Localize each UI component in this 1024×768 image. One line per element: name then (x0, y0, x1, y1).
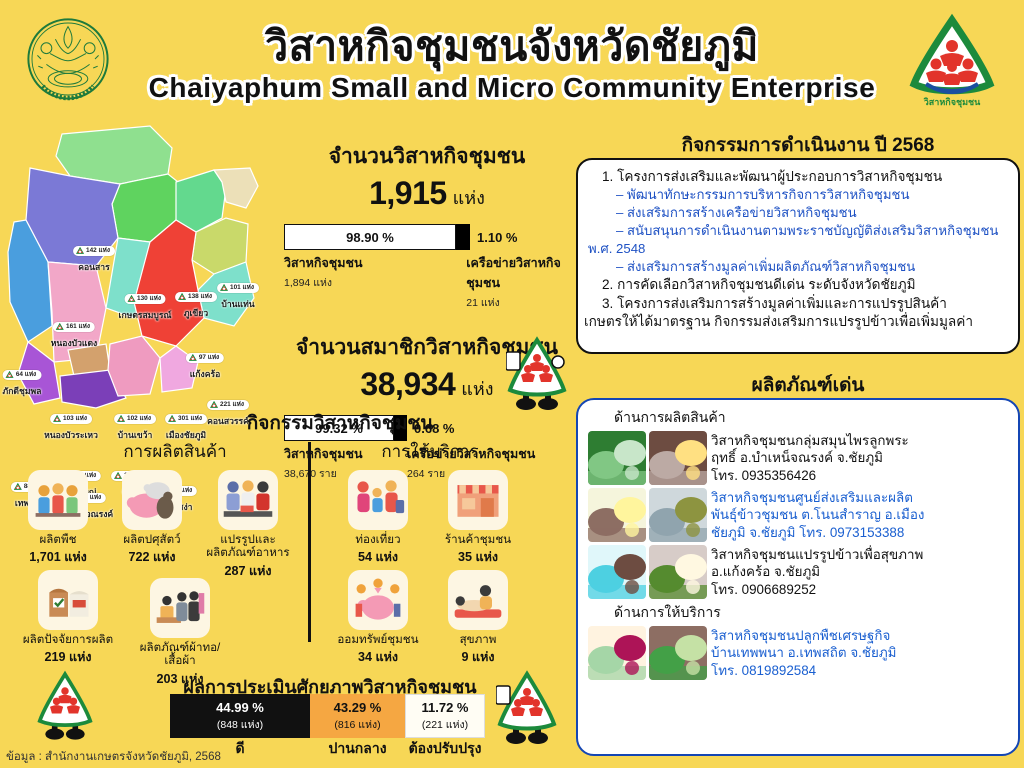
enterprise-major-pct: 98.90 % (284, 224, 456, 250)
mascot-logo-character-2 (36, 670, 94, 742)
chaiyaphum-district-map: 142 แห่งคอนสาร130 แห่งเกษตรสมบูรณ์138 แห… (0, 112, 272, 412)
activity-cell-count: 34 แห่ง (330, 647, 426, 667)
product-description: วิสาหกิจชุมชนกลุ่มสมุนไพรลูกพระฤทธิ์ อ.บ… (711, 431, 909, 484)
activity-cell-services-0: ท่องเที่ยว54 แห่ง (330, 470, 426, 567)
enterprise-total: 1,915 (369, 175, 447, 211)
product-thumbnails (588, 545, 707, 599)
map-district-label: 161 แห่งหนองบัวแดง (51, 318, 98, 350)
district-name: บ้านแท่น (217, 297, 259, 311)
district-count-pill: 64 แห่ง (3, 370, 41, 380)
farmers-crops-icon (28, 470, 88, 530)
assessment-segment-1: 43.29 %(816 แห่ง) (310, 694, 405, 738)
product-description: วิสาหกิจชุมชนปลูกพืชเศรษฐกิจบ้านเทพพนา อ… (711, 626, 896, 679)
activity-cell-goods-0: ผลิตพืช1,701 แห่ง (10, 470, 106, 567)
activity-cell-label: ร้านค้าชุมชน (430, 533, 526, 546)
activity-cell-goods-1: ผลิตปศุสัตว์722 แห่ง (104, 470, 200, 567)
activity-item-3-cont: เกษตรให้ได้มาตรฐาน กิจกรรมส่งเสริมการแปร… (584, 313, 1010, 331)
assessment-segment-2: 11.72 %(221 แห่ง) (405, 694, 485, 738)
district-count: 103 แห่ง (63, 415, 87, 422)
header: วิสาหกิจชุมชน วิสาหกิจชุมชนจังหวัดชัยภูม… (0, 0, 1024, 118)
product-thumbnails (588, 488, 707, 542)
district-name: ภูเขียว (175, 306, 217, 320)
product-item: วิสาหกิจชุมชนปลูกพืชเศรษฐกิจบ้านเทพพนา อ… (588, 626, 1008, 680)
district-count: 161 แห่ง (66, 323, 90, 330)
activity-item-1: 1. โครงการส่งเสริมและพัฒนาผู้ประกอบการวิ… (602, 168, 1010, 186)
district-name: แก้งคร้อ (186, 367, 224, 381)
district-count: 142 แห่ง (86, 247, 110, 254)
activity-cell-count: 219 แห่ง (20, 647, 116, 667)
map-district-label: 64 แห่งภักดีชุมพล (3, 366, 42, 398)
activity-cell-count: 9 แห่ง (430, 647, 526, 667)
activity-cell-services-3: สุขภาพ9 แห่ง (430, 570, 526, 667)
activity-sub-3-cont: พ.ศ. 2548 (588, 240, 1010, 258)
district-count-pill: 130 แห่ง (124, 294, 166, 304)
activity-grid-heading: กิจกรรมวิสาหกิจชุมชน (160, 408, 520, 438)
activity-cell-label: ออมทรัพย์ชุมชน (330, 633, 426, 646)
rice-product-photo (588, 488, 646, 542)
activity-cell-label: ท่องเที่ยว (330, 533, 426, 546)
gift-basket-photo (588, 545, 646, 599)
district-count: 101 แห่ง (230, 284, 254, 291)
livestock-icon (122, 470, 182, 530)
map-district-label: 142 แห่งคอนสาร (73, 242, 115, 274)
enterprise-minor-caption: เครือข่ายวิสาหกิจชุมชน 21 แห่ง (466, 253, 592, 311)
activity-cell-services-1: ร้านค้าชุมชน35 แห่ง (430, 470, 526, 567)
page-title-english: Chaiyaphum Small and Micro Community Ent… (0, 72, 1024, 104)
activity-item-2: 2. การคัดเลือกวิสาหกิจชุมชนดีเด่น ระดับจ… (602, 276, 1010, 294)
enterprise-total-unit: แห่ง (453, 188, 485, 208)
enterprise-minor-segment (456, 224, 470, 250)
rice-sack-icon (38, 570, 98, 630)
enterprise-minor-pct: 1.10 % (477, 224, 517, 250)
activity-cell-label: สุขภาพ (430, 633, 526, 646)
products-heading: ผลิตภัณฑ์เด่น (592, 370, 1024, 400)
district-name: ภักดีชุมพล (3, 384, 42, 398)
district-count: 138 แห่ง (188, 293, 212, 300)
enterprise-minor-label: เครือข่ายวิสาหกิจชุมชน (466, 253, 592, 293)
product-item: วิสาหกิจชุมชนศูนย์ส่งเสริมและผลิตพันธุ์ข… (588, 488, 1008, 542)
enterprise-major-count: 1,894 แห่ง (284, 274, 466, 291)
district-count-pill: 102 แห่ง (114, 414, 156, 424)
grid-divider (308, 442, 311, 642)
activity-cell-label: ผลิตปัจจัยการผลิต (20, 633, 116, 646)
enterprise-minor-count: 21 แห่ง (466, 294, 592, 311)
map-district-label: 97 แห่งแก้งคร้อ (186, 349, 224, 381)
activity-cell-count: 1,701 แห่ง (10, 547, 106, 567)
activity-item-3: 3. โครงการส่งเสริมการสร้างมูลค่าเพิ่มและ… (602, 295, 1010, 313)
product-thumbnails (588, 431, 707, 485)
enterprise-stat-block: จำนวนวิสาหกิจชุมชน 1,915แห่ง 98.90 % 1.1… (262, 140, 592, 311)
activity-sub-4: – ส่งเสริมการสร้างมูลค่าเพิ่มผลิตภัณฑ์วิ… (616, 258, 1010, 276)
activity-cell-count: 722 แห่ง (104, 547, 200, 567)
assessment-bar: 44.99 %(848 แห่ง)43.29 %(816 แห่ง)11.72 … (170, 694, 485, 738)
activity-cell-goods-3: ผลิตปัจจัยการผลิต219 แห่ง (20, 570, 116, 667)
products-panel: ด้านการผลิตสินค้า วิสาหกิจชุมชนกลุ่มสมุน… (576, 398, 1020, 756)
assessment-segment-0: 44.99 %(848 แห่ง) (170, 694, 310, 738)
product-thumbnails (588, 626, 707, 680)
activity-grid-col-service: การให้บริการ (330, 438, 530, 465)
activities-panel: 1. โครงการส่งเสริมและพัฒนาผู้ประกอบการวิ… (576, 158, 1020, 354)
enterprise-major-caption: วิสาหกิจชุมชน 1,894 แห่ง (284, 253, 466, 311)
map-district-label: 101 แห่งบ้านแท่น (217, 279, 259, 311)
exhibition-booth-photo (649, 545, 707, 599)
weaving-textile-icon (150, 578, 210, 638)
activity-cell-label: ผลิตภัณฑ์ผ้าทอ/ เสื้อผ้า (132, 641, 228, 668)
market-booth-photo (649, 431, 707, 485)
activity-cell-count: 54 แห่ง (330, 547, 426, 567)
product-description: วิสาหกิจชุมชนแปรรูปข้าวเพื่อสุขภาพอ.แก้ง… (711, 545, 923, 598)
activity-cell-label: ผลิตปศุสัตว์ (104, 533, 200, 546)
footer-source: ข้อมูล : สำนักงานเกษตรจังหวัดชัยภูมิ, 25… (6, 748, 221, 766)
activity-cell-goods-2: แปรรูปและผลิตภัณฑ์อาหาร287 แห่ง (200, 470, 296, 581)
enterprise-heading: จำนวนวิสาหกิจชุมชน (262, 140, 592, 173)
activity-cell-count: 35 แห่ง (430, 547, 526, 567)
enterprise-major-label: วิสาหกิจชุมชน (284, 253, 466, 273)
assessment-segment-count: (221 แห่ง) (422, 716, 468, 733)
activity-cell-label: แปรรูปและผลิตภัณฑ์อาหาร (200, 533, 296, 560)
district-name: เกษตรสมบูรณ์ (119, 308, 172, 322)
page-title-thai: วิสาหกิจชุมชนจังหวัดชัยภูมิ (0, 14, 1024, 79)
health-massage-icon (448, 570, 508, 630)
assessment-segment-count: (816 แห่ง) (334, 716, 380, 733)
tourism-icon (348, 470, 408, 530)
district-name: หนองบัวแดง (51, 336, 98, 350)
product-item: วิสาหกิจชุมชนกลุ่มสมุนไพรลูกพระฤทธิ์ อ.บ… (588, 431, 1008, 485)
activity-cell-label: ผลิตพืช (10, 533, 106, 546)
map-district-label: 138 แห่งภูเขียว (175, 288, 217, 320)
shop-icon (448, 470, 508, 530)
enterprise-ratio-bar: 98.90 % 1.10 % (284, 224, 592, 250)
product-description: วิสาหกิจชุมชนศูนย์ส่งเสริมและผลิตพันธุ์ข… (711, 488, 924, 541)
mascot-logo-character-1 (506, 336, 568, 412)
products-category-goods: ด้านการผลิตสินค้า (614, 407, 1008, 429)
district-name: คอนสาร (73, 260, 115, 274)
district-count-pill: 97 แห่ง (186, 353, 224, 363)
district-count-pill: 161 แห่ง (53, 322, 95, 332)
activities-panel-heading: กิจกรรมการดำเนินงาน ปี 2568 (592, 130, 1024, 160)
assessment-segment-count: (848 แห่ง) (217, 716, 263, 733)
assessment-segment-label-1: ปานกลาง (310, 738, 405, 760)
district-count-pill: 142 แห่ง (73, 246, 115, 256)
food-dish-photo (588, 626, 646, 680)
rice-sacks-photo (649, 488, 707, 542)
activity-sub-2: – ส่งเสริมการสร้างเครือข่ายวิสาหกิจชุมชน (616, 204, 1010, 222)
district-count: 130 แห่ง (137, 295, 161, 302)
mascot-logo-character-3 (496, 670, 558, 746)
district-count: 102 แห่ง (127, 415, 151, 422)
product-item: วิสาหกิจชุมชนแปรรูปข้าวเพื่อสุขภาพอ.แก้ง… (588, 545, 1008, 599)
food-processing-icon (218, 470, 278, 530)
savings-piggybank-icon (348, 570, 408, 630)
infographic-page: วิสาหกิจชุมชน วิสาหกิจชุมชนจังหวัดชัยภูม… (0, 0, 1024, 768)
aerial-farm-photo (649, 626, 707, 680)
district-count-pill: 103 แห่ง (50, 414, 92, 424)
district-count: 97 แห่ง (199, 354, 219, 361)
members-total: 38,934 (360, 366, 455, 402)
district-count-pill: 101 แห่ง (217, 283, 259, 293)
activity-cell-services-2: ออมทรัพย์ชุมชน34 แห่ง (330, 570, 426, 667)
activity-sub-1: – พัฒนาทักษะกรรมการบริหารกิจการวิสาหกิจช… (616, 186, 1010, 204)
members-total-unit: แห่ง (461, 379, 493, 399)
assessment-segment-pct: 44.99 % (216, 700, 264, 715)
map-district-label: 130 แห่งเกษตรสมบูรณ์ (119, 290, 172, 322)
district-count-pill: 138 แห่ง (175, 292, 217, 302)
assessment-segment-label-2: ต้องปรับปรุง (405, 738, 485, 760)
district-count: 64 แห่ง (16, 371, 36, 378)
activity-grid-col-goods: การผลิตสินค้า (70, 438, 280, 465)
assessment-segment-pct: 11.72 % (422, 700, 469, 715)
herbal-vegetable-photo (588, 431, 646, 485)
activity-sub-3: – สนับสนุนการดำเนินงานตามพระราชบัญญัติส่… (616, 222, 1010, 240)
products-category-service: ด้านการให้บริการ (614, 602, 1008, 624)
assessment-segment-pct: 43.29 % (334, 700, 382, 715)
